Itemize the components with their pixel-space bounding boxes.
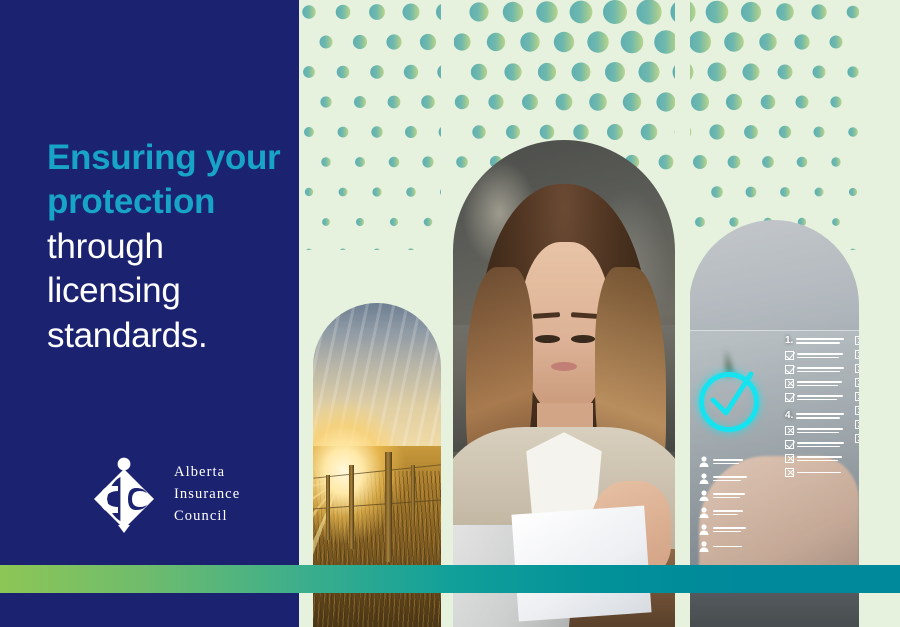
document-paper	[512, 506, 652, 622]
person-line	[713, 463, 739, 465]
person-row	[699, 507, 747, 518]
checkbox-checked[interactable]	[785, 351, 794, 360]
headline-accent-line-2: protection	[47, 180, 297, 224]
person-line	[713, 497, 740, 499]
checklist-line	[797, 442, 844, 444]
checklist-line	[797, 367, 844, 369]
arch-image-woman-reading	[453, 140, 675, 627]
checklist-line	[797, 353, 843, 355]
brand-logo-wordmark: Alberta Insurance Council	[174, 461, 240, 527]
checklist-item[interactable]	[785, 454, 845, 463]
checklist-line	[796, 338, 844, 340]
person-line	[713, 531, 741, 533]
headline-line-4: licensing	[47, 269, 297, 313]
person-icon	[699, 524, 709, 535]
person-row	[699, 541, 747, 552]
checkbox-checked[interactable]	[785, 393, 794, 402]
checklist-heading-row: 4.	[785, 411, 845, 421]
person-icon	[699, 473, 709, 484]
person-icon	[699, 507, 709, 518]
checklist-item[interactable]	[785, 393, 845, 402]
person-row	[699, 490, 747, 501]
person-line	[713, 514, 738, 516]
headline-line-3: through	[47, 225, 297, 269]
person-line	[713, 480, 741, 482]
person-row	[699, 473, 747, 484]
check-tick-icon	[707, 370, 754, 426]
person-line	[713, 527, 746, 529]
eye-left	[535, 335, 559, 343]
logo-line-council: Council	[174, 505, 240, 527]
checklist-line	[797, 399, 837, 401]
navy-text-panel: Ensuring your protection through licensi…	[0, 0, 299, 627]
logo-line-insurance: Insurance	[174, 483, 240, 505]
checklist-line	[797, 428, 843, 430]
checkbox-checked[interactable]	[785, 365, 794, 374]
checklist-line	[797, 385, 838, 387]
poster-canvas: 1.	[0, 0, 900, 627]
checklist-heading-lines	[796, 338, 844, 343]
person-line	[713, 546, 742, 548]
checklist-item[interactable]	[785, 426, 845, 435]
checkbox-crossed[interactable]	[785, 426, 794, 435]
checklist-line	[797, 395, 843, 397]
checklist-line	[797, 472, 841, 474]
checklist-item[interactable]	[785, 351, 845, 360]
fence-post	[411, 465, 415, 520]
checklist-line	[797, 456, 842, 458]
eye-right	[571, 335, 595, 343]
aic-diamond-monogram-icon	[88, 455, 160, 533]
checklist-line	[797, 460, 838, 462]
person-icon	[699, 456, 709, 467]
person-row	[699, 524, 747, 535]
person-row	[699, 456, 747, 467]
person-line	[713, 493, 745, 495]
headline-line-5: standards.	[47, 314, 297, 358]
person-icon	[699, 541, 709, 552]
checkbox-crossed[interactable]	[785, 454, 794, 463]
brand-logo[interactable]: Alberta Insurance Council	[88, 455, 240, 533]
person-line	[713, 459, 743, 461]
brand-gradient-bar	[0, 565, 900, 593]
checklist-line	[796, 342, 840, 344]
checklist-heading-row: 1.	[785, 336, 845, 346]
person-list	[699, 456, 747, 558]
checklist-number: 1.	[785, 336, 793, 346]
person-line	[713, 510, 743, 512]
checklist-line	[797, 446, 840, 448]
checkbox-checked[interactable]	[785, 440, 794, 449]
checklist-number: 4.	[785, 411, 793, 421]
checklist-line	[797, 357, 839, 359]
fence-post	[385, 452, 392, 562]
checklist-line	[797, 432, 839, 434]
headline-accent-line-1: Ensuring your	[47, 136, 297, 180]
checklist-line	[796, 413, 844, 415]
checklist-item[interactable]	[785, 379, 845, 388]
person-icon	[699, 490, 709, 501]
arch-divider-gap	[675, 0, 690, 627]
checkbox-crossed[interactable]	[785, 468, 794, 477]
checklist-line	[797, 371, 840, 373]
right-edge-gap	[859, 0, 900, 627]
checklist-item[interactable]	[785, 440, 845, 449]
logo-line-alberta: Alberta	[174, 461, 240, 483]
checkbox-crossed[interactable]	[785, 379, 794, 388]
fence-post	[326, 475, 330, 540]
checklist-column-primary: 1.	[785, 336, 845, 482]
page-title: Ensuring your protection through licensi…	[47, 136, 297, 358]
fence-post	[349, 465, 354, 549]
lips	[551, 362, 578, 371]
checklist-line	[796, 417, 840, 419]
checklist-item[interactable]	[785, 365, 845, 374]
checklist-item[interactable]	[785, 468, 845, 477]
checklist-line	[797, 381, 842, 383]
person-line	[713, 476, 747, 478]
